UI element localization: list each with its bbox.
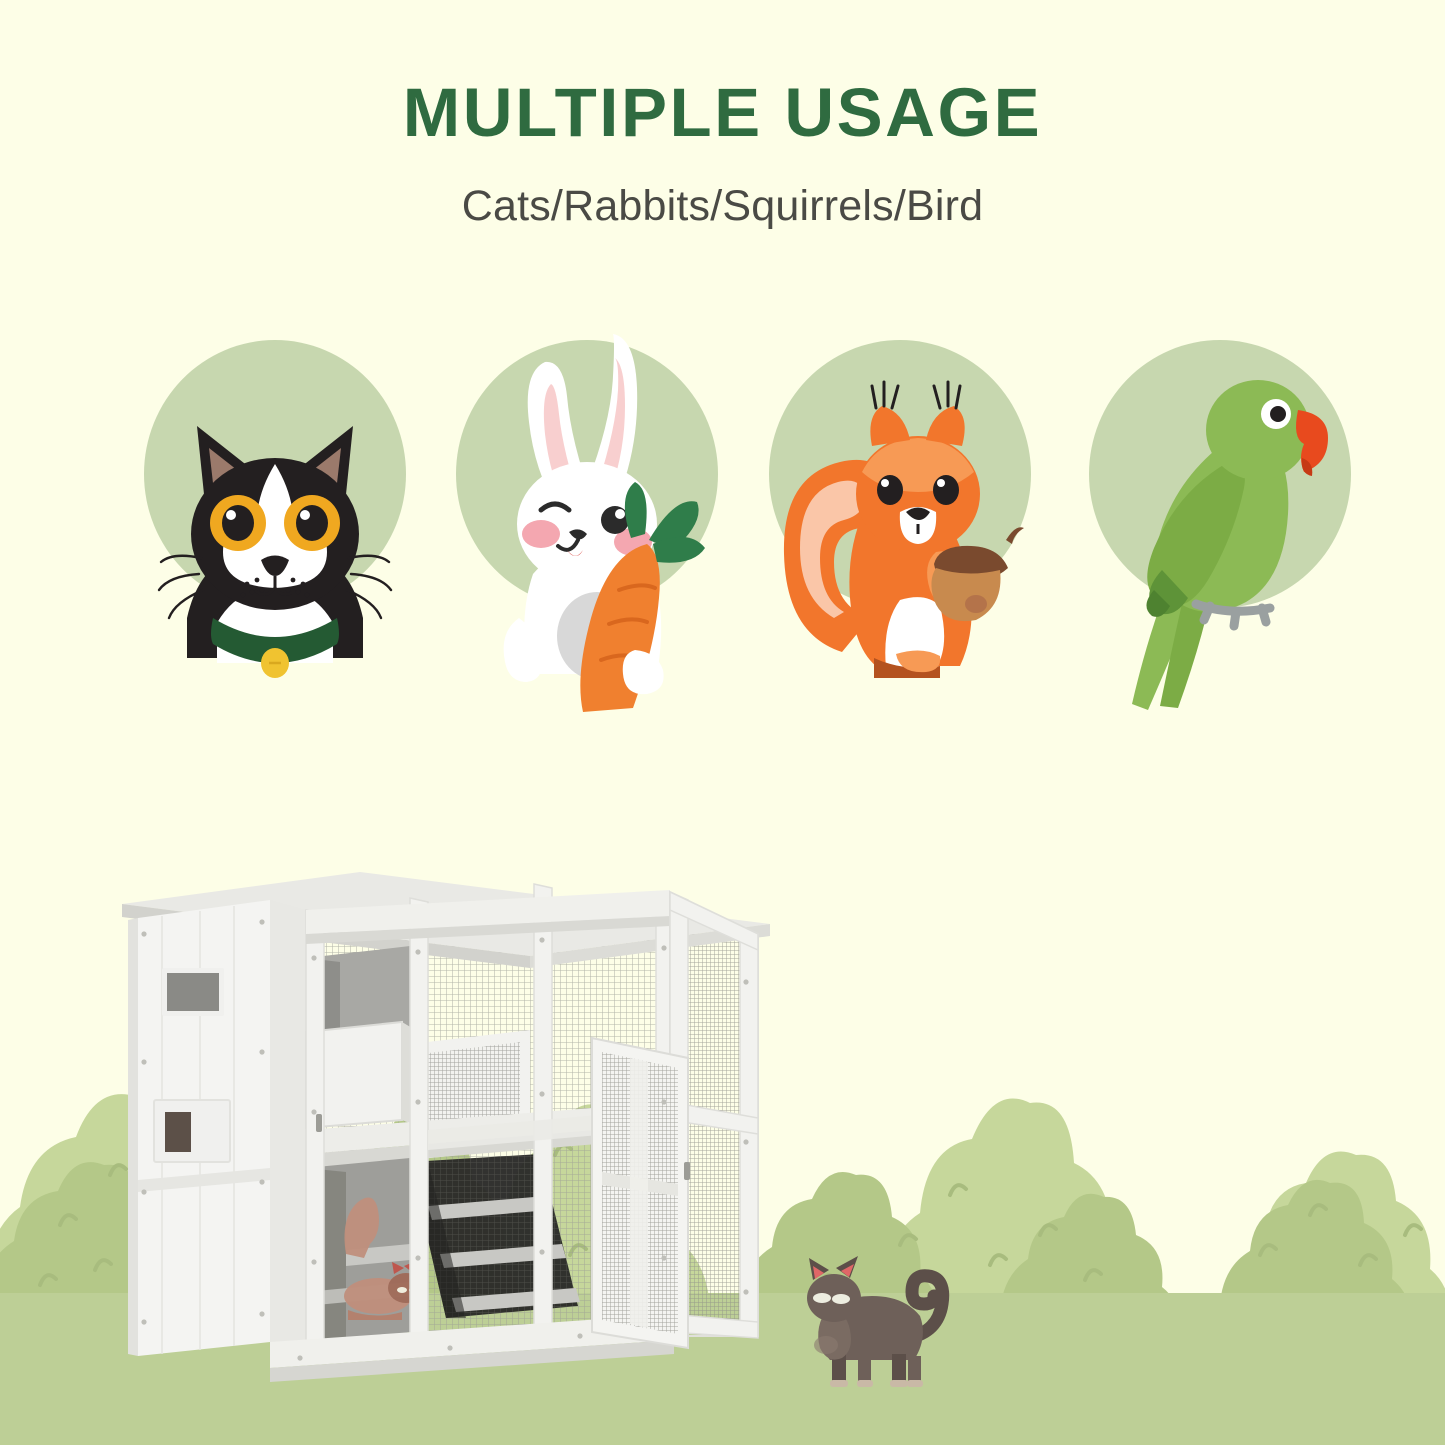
infographic-canvas: MULTIPLE USAGE Cats/Rabbits/Squirrels/Bi…: [0, 0, 1445, 1445]
animal-icon-cat: [125, 318, 425, 718]
page-title: MULTIPLE USAGE: [0, 0, 1445, 147]
wooden-catio-cat-house: [110, 862, 790, 1442]
rabbit-icon: [437, 318, 737, 718]
animal-icon-bird: [1070, 318, 1370, 718]
product-scene: [0, 930, 1445, 1445]
page-subtitle: Cats/Rabbits/Squirrels/Bird: [0, 147, 1445, 228]
animal-icon-row: [0, 318, 1445, 718]
parrot-icon: [1070, 318, 1370, 718]
animal-icon-squirrel: [750, 318, 1050, 718]
animal-icon-rabbit: [437, 318, 737, 718]
header: MULTIPLE USAGE Cats/Rabbits/Squirrels/Bi…: [0, 0, 1445, 228]
squirrel-icon: [750, 318, 1050, 718]
cat-icon: [125, 318, 425, 718]
walking-cat: [780, 1230, 960, 1410]
